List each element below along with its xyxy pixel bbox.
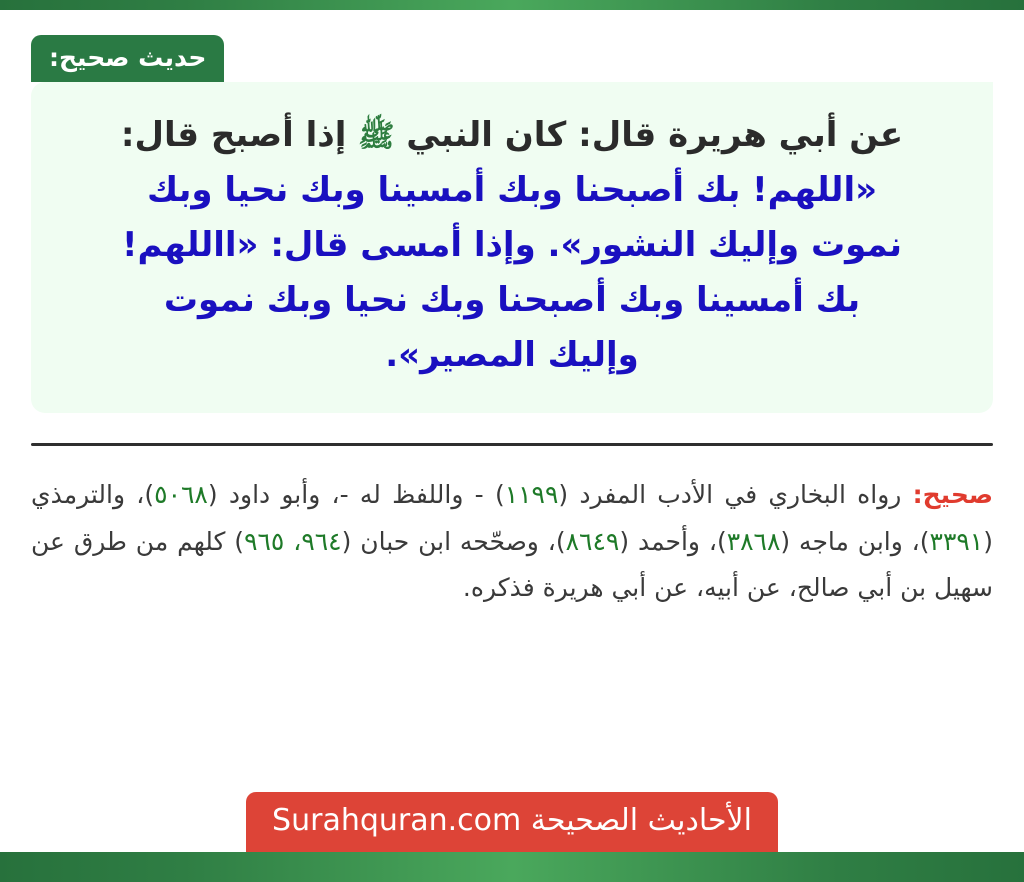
hadith-line-5: وإليك المصير».: [59, 328, 965, 383]
citation-reference-number: ١١٩٩: [505, 480, 559, 509]
citation-segment: )، وصحّحه ابن حبان (: [342, 527, 566, 556]
citation-reference-number: ٨٦٤٩: [566, 527, 620, 556]
citation-segment: ) - واللفظ له -، وأبو داود (: [208, 480, 505, 509]
footer-row: الأحاديث الصحيحة Surahquran.com: [0, 792, 1024, 852]
citation-grade-label: صحيح:: [913, 480, 993, 509]
badge-row: حديث صحيح:: [31, 10, 993, 82]
section-divider: [31, 443, 993, 446]
site-footer-banner[interactable]: الأحاديث الصحيحة Surahquran.com: [246, 792, 778, 852]
card-body: حديث صحيح: عن أبي هريرة قال: كان النبي ﷺ…: [0, 10, 1024, 852]
citation-reference-number: ٣٣٩١: [930, 527, 984, 556]
hadith-line-1-part-a: عن أبي هريرة قال: كان النبي: [394, 115, 903, 155]
hadith-grade-badge: حديث صحيح:: [31, 35, 224, 82]
citation-reference-number: ٩٦٤، ٩٦٥: [244, 527, 342, 556]
bottom-decorative-bar: [0, 852, 1024, 882]
hadith-line-1: عن أبي هريرة قال: كان النبي ﷺ إذا أصبح ق…: [59, 108, 965, 163]
top-decorative-bar: [0, 0, 1024, 10]
hadith-line-4: بك أمسينا وبك أصبحنا وبك نحيا وبك نموت: [59, 273, 965, 328]
citation-reference-number: ٥٠٦٨: [154, 480, 208, 509]
hadith-line-2: «اللهم! بك أصبحنا وبك أمسينا وبك نحيا وب…: [59, 163, 965, 218]
citation-segment: )، وابن ماجه (: [780, 527, 929, 556]
citation-text: صحيح: رواه البخاري في الأدب المفرد (١١٩٩…: [31, 472, 993, 611]
hadith-line-3: نموت وإليك النشور». وإذا أمسى قال: «االل…: [59, 218, 965, 273]
citation-reference-number: ٣٨٦٨: [727, 527, 781, 556]
hadith-line-1-part-b: إذا أصبح قال:: [121, 115, 358, 155]
citation-segment: )، وأحمد (: [619, 527, 726, 556]
salawat-glyph-icon: ﷺ: [358, 119, 394, 154]
citation-segment: رواه البخاري في الأدب المفرد (: [558, 480, 912, 509]
hadith-text-box: عن أبي هريرة قال: كان النبي ﷺ إذا أصبح ق…: [31, 82, 993, 413]
